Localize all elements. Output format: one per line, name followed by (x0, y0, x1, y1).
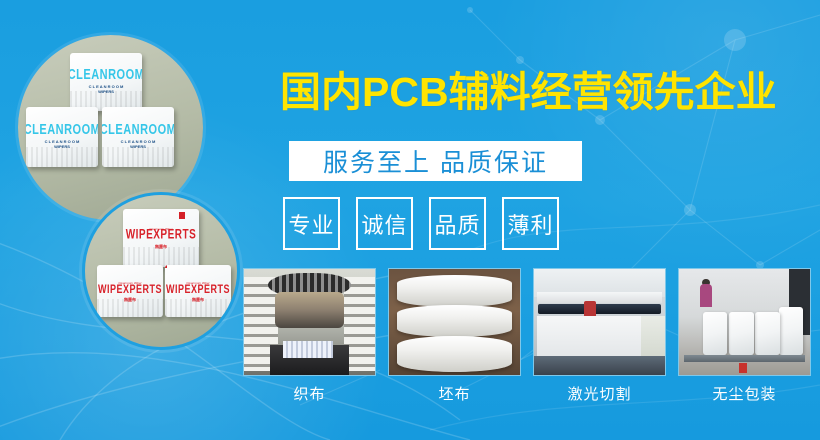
cleanroom-wipes-photo: CLEANROOM C L E A N R O O M WIPERS CLEAN… (18, 35, 203, 220)
process-step-weaving: 织布 (243, 268, 376, 404)
process-thumbnail-strip: 织布 坯布 激光切割 (243, 268, 811, 404)
wipexperts-photo: Cleanroom Wiper WIPEXPERTS 無塵布 Cleanroom… (82, 192, 240, 350)
pack-brand-label: CLEANROOM (102, 123, 174, 138)
greige-fabric-rolls-photo (388, 268, 521, 376)
pack-brand-label: CLEANROOM (26, 123, 98, 138)
process-step-caption: 织布 (243, 383, 376, 404)
cleanroom-packaging-photo (678, 268, 811, 376)
process-step-caption: 无尘包装 (678, 383, 811, 404)
keyword-tag-pinzhi: 品质 (429, 197, 486, 250)
process-step-laser-cutting: 激光切割 (533, 268, 666, 404)
pack-brand-label: WIPEXPERTS (126, 229, 197, 243)
promo-banner: CLEANROOM C L E A N R O O M WIPERS CLEAN… (0, 0, 820, 440)
pack-brand-label: CLEANROOM (70, 68, 142, 83)
pack-brand-label: WIPEXPERTS (98, 283, 162, 295)
headline: 国内PCB辅料经营领先企业 (280, 72, 800, 113)
process-step-greige: 坯布 (388, 268, 521, 404)
process-step-caption: 激光切割 (533, 383, 666, 404)
process-step-caption: 坯布 (388, 383, 521, 404)
laser-cutting-machine-photo (533, 268, 666, 376)
subtitle-text: 服务至上 品质保证 (323, 143, 548, 179)
process-step-cleanroom-packaging: 无尘包装 (678, 268, 811, 404)
subtitle-box: 服务至上 品质保证 (289, 141, 582, 181)
pack-brand-label: WIPEXPERTS (166, 283, 230, 295)
keyword-tag-chengxin: 诚信 (356, 197, 413, 250)
keyword-tag-zhuanye: 专业 (283, 197, 340, 250)
keyword-tag-list: 专业 诚信 品质 薄利 (283, 197, 559, 250)
knitting-machine-photo (243, 268, 376, 376)
keyword-tag-baoli: 薄利 (502, 197, 559, 250)
